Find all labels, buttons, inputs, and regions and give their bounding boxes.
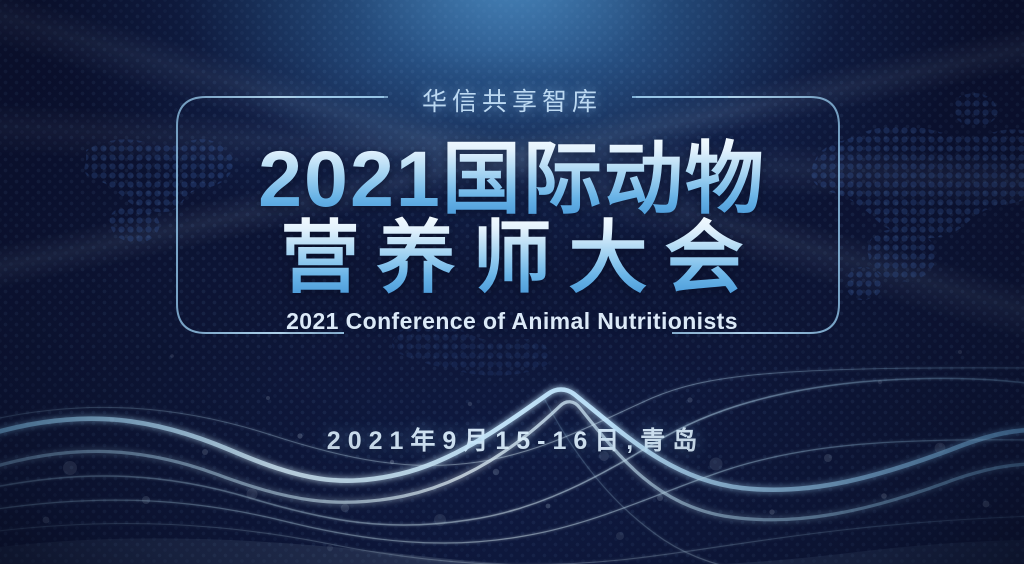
main-title-line-1: 2021国际动物	[0, 136, 1024, 222]
english-subtitle: 2021 Conference of Animal Nutritionists	[0, 308, 1024, 335]
wave-graphic	[0, 364, 1024, 564]
conference-banner: 华信共享智库 2021国际动物 营养师大会 2021 Conference of…	[0, 0, 1024, 564]
organization-eyebrow: 华信共享智库	[0, 82, 1024, 118]
main-title-line-2: 营养师大会	[0, 215, 1024, 301]
